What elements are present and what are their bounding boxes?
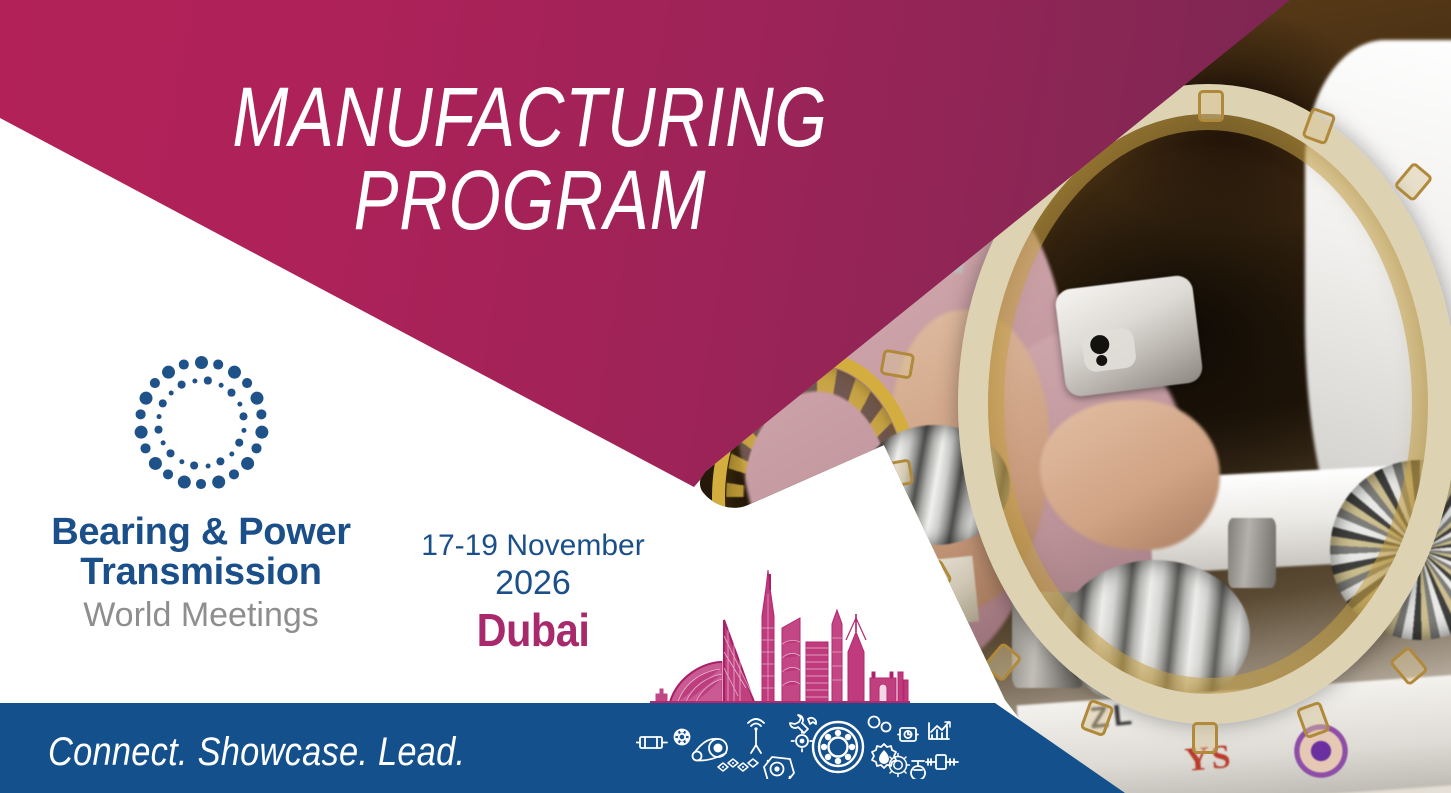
belt-pulley-icon [693, 739, 728, 761]
valve-icon [898, 728, 918, 741]
logo-dot [205, 463, 210, 468]
logo-dot [228, 389, 236, 397]
logo-dot [155, 426, 163, 434]
event-dates: 17-19 November [408, 528, 658, 563]
dubai-skyline-icon [650, 568, 910, 703]
logo-dot [168, 390, 173, 395]
photo-ring-slot [878, 458, 914, 489]
event-details: 17-19 November 2026 Dubai [408, 528, 658, 658]
logo-dot [136, 410, 146, 420]
timing-icon [887, 754, 910, 777]
brand-name: Bearing & Power Transmission [12, 512, 390, 593]
logo-dot [242, 378, 252, 388]
logo-dot [204, 377, 212, 385]
photo-ring-slot [1192, 722, 1218, 754]
shaft-icon [636, 737, 667, 748]
lubrication-gear-icon [872, 744, 896, 768]
gearbox-icon [764, 757, 794, 779]
logo-dot [227, 365, 240, 378]
manufacturing-program-banner: ZL YS MANUFACTURING PROGRAM Bearing & Po… [0, 0, 1451, 793]
logo-dot [257, 410, 267, 420]
logo-dot [212, 475, 225, 488]
photo-ring-slot [879, 349, 915, 380]
actuator-icon [926, 755, 958, 769]
logo-dot [237, 401, 242, 406]
photo-large-ring-inner-edge [988, 114, 1428, 694]
logo-dot [229, 451, 234, 456]
logo-dot [167, 450, 175, 458]
logo-dot [196, 479, 206, 489]
antenna-icon [748, 719, 764, 753]
small-bearing-icon [675, 730, 690, 745]
brand-subtitle: World Meetings [12, 595, 390, 636]
logo-dot [217, 458, 225, 466]
logo-dot [241, 427, 246, 432]
logo-dot [255, 425, 268, 438]
growth-chart-icon [929, 722, 950, 739]
logo-dot [141, 444, 151, 454]
ball-pair-icon [869, 717, 891, 732]
logo-dot [236, 439, 244, 447]
logo-dot [162, 365, 175, 378]
logo-dot [252, 444, 261, 454]
logo-dot [195, 356, 208, 369]
logo-dot [240, 413, 248, 421]
logo-dot [139, 391, 152, 404]
logo-dot [134, 425, 147, 438]
logo-dot [229, 470, 239, 480]
logo-dot [192, 378, 197, 383]
page-title: MANUFACTURING PROGRAM [106, 76, 954, 242]
logo-dot [190, 462, 198, 470]
logo-dot [250, 391, 263, 404]
dot-ring-icon [126, 348, 276, 498]
logo-dot [156, 414, 161, 419]
industrial-icons-strip [636, 713, 966, 779]
logo-dot [163, 470, 173, 480]
tagline: Connect. Showcase. Lead. [48, 730, 465, 775]
logo-dot [178, 381, 186, 389]
logo-dot [148, 456, 161, 469]
logo-dot [179, 360, 189, 370]
chain-icon [718, 759, 758, 771]
event-year: 2026 [408, 563, 658, 604]
logo-dot [150, 378, 160, 388]
event-city: Dubai [421, 604, 646, 657]
logo-dot [213, 360, 223, 370]
brand-logo: Bearing & Power Transmission World Meeti… [12, 348, 390, 635]
pump-icon [911, 761, 925, 779]
logo-dot [218, 382, 223, 387]
logo-dot [179, 459, 184, 464]
logo-dot [159, 400, 167, 408]
logo-dot [160, 440, 165, 445]
logo-dot [241, 456, 254, 469]
photo-ring-slot [1198, 90, 1224, 122]
ball-bearing-icon [813, 722, 863, 772]
logo-dot [177, 475, 190, 488]
